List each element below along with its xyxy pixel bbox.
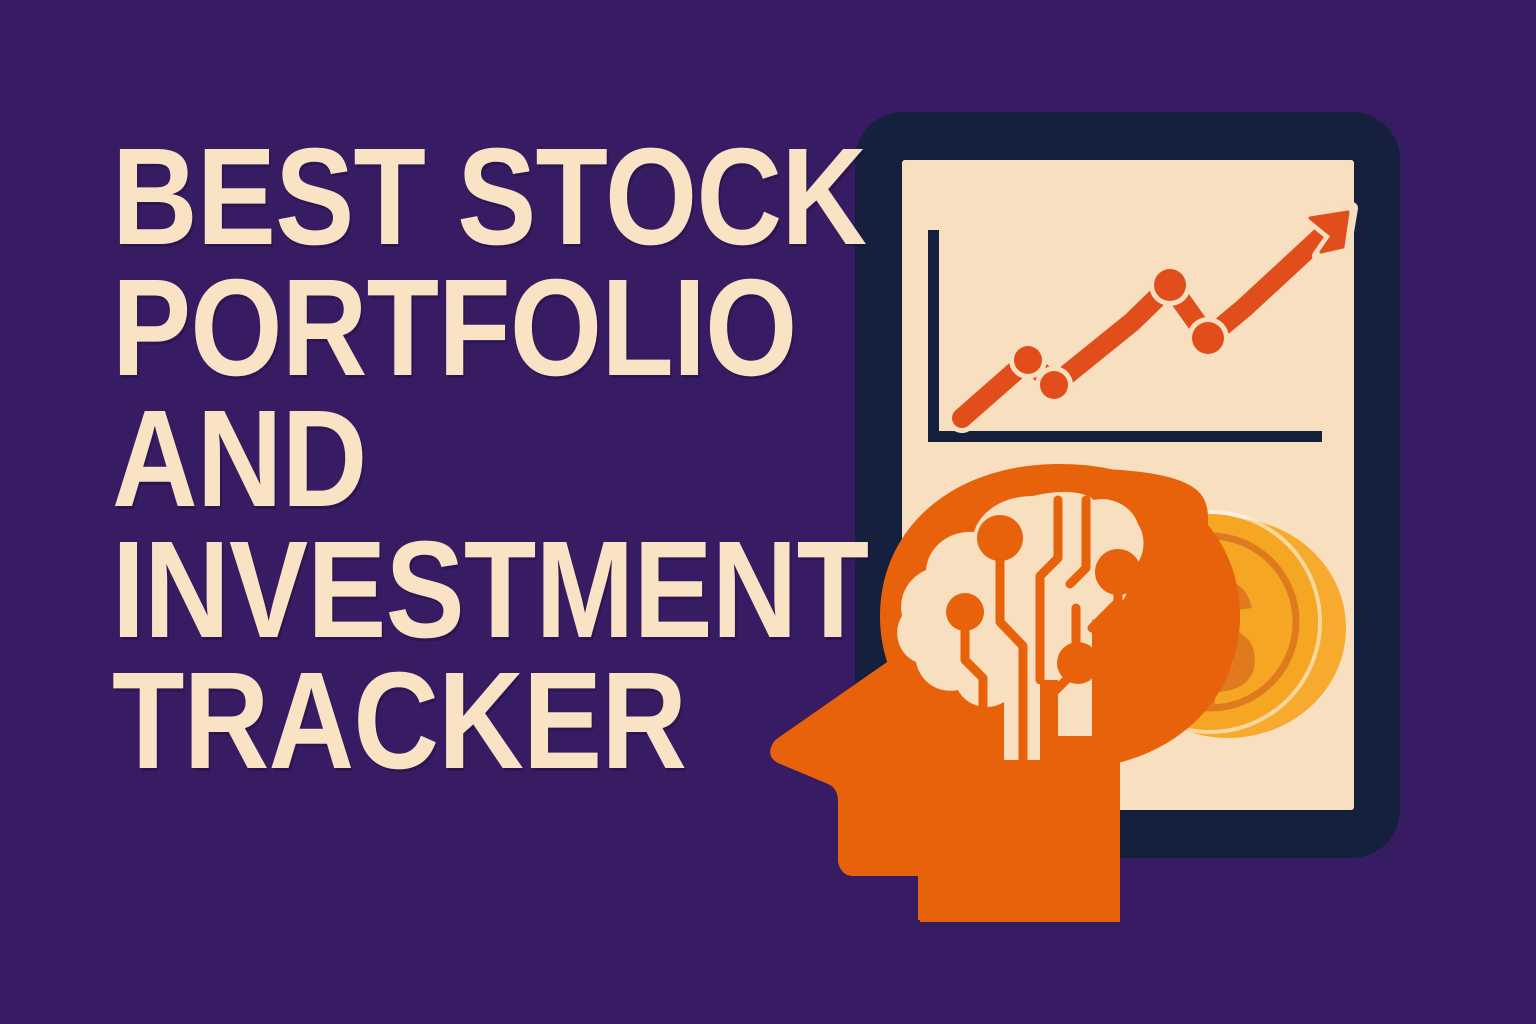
headline-line-3: AND [112, 394, 697, 525]
headline-block: BEST STOCK PORTFOLIO AND INVESTMENT TRAC… [112, 132, 792, 787]
headline-line-5: TRACKER [112, 656, 697, 787]
headline-line-1: BEST STOCK [112, 132, 697, 263]
headline-line-4: INVESTMENT [112, 525, 697, 656]
poster-canvas: BEST STOCK PORTFOLIO AND INVESTMENT TRAC… [0, 0, 1536, 1024]
headline-line-2: PORTFOLIO [112, 263, 697, 394]
